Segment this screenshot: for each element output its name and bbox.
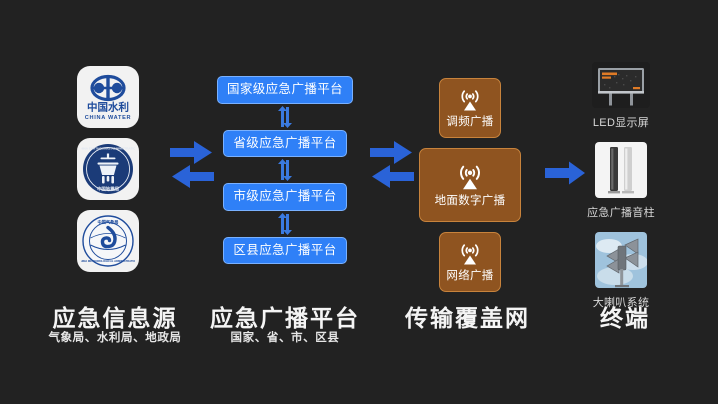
bidirectional-vertical-arrow-icon — [277, 213, 293, 235]
terminal-item-speaker-column[interactable]: 应急广播音柱 — [587, 142, 655, 220]
platform-vlink-1 — [277, 104, 293, 130]
led-display-icon — [592, 62, 650, 108]
svg-text:CHINA EARTHQUAKE ADMINISTRATIO: CHINA EARTHQUAKE ADMINISTRATION — [81, 146, 135, 150]
transmission-box-internet[interactable]: 网络广播 — [439, 232, 501, 292]
logo-china-meteorological-administration: 中国气象局 CHINA METEOROLOGICAL ADMINISTRATIO… — [77, 210, 139, 272]
section-title-sources: 应急信息源 — [30, 299, 200, 333]
bidirectional-vertical-arrow-icon — [277, 106, 293, 128]
terminal-label-led-display: LED显示屏 — [593, 114, 649, 130]
transmission-label-internet: 网络广播 — [446, 271, 493, 283]
china-meteorological-administration-seal-icon: 中国气象局 CHINA METEOROLOGICAL ADMINISTRATIO… — [81, 214, 135, 268]
platform-box-column: 国家级应急广播平台 省级应急广播平台 市级应急广播平台 区县应急广播平台 — [222, 76, 348, 264]
broadcast-tower-icon — [452, 163, 488, 191]
svg-text:中国气象局: 中国气象局 — [98, 219, 119, 226]
broadcast-tower-icon — [455, 88, 485, 112]
logo-china-water: 中国水利 CHINA WATER — [77, 66, 139, 128]
platform-box-district[interactable]: 区县应急广播平台 — [223, 237, 346, 265]
source-logo-column: 中国水利 CHINA WATER CHINA EARTHQUAKE A — [77, 66, 139, 272]
transmission-label-fm: 调频广播 — [446, 117, 493, 129]
bidirectional-arrow-icon — [166, 138, 218, 194]
section-title-terminal: 终端 — [570, 299, 680, 333]
china-earthquake-administration-seal-icon: CHINA EARTHQUAKE ADMINISTRATION 中国地震局 — [81, 142, 135, 196]
diagram-canvas: 中国水利 CHINA WATER CHINA EARTHQUAKE A — [0, 0, 718, 404]
svg-text:CHINA METEOROLOGICAL ADMINISTR: CHINA METEOROLOGICAL ADMINISTRATION — [81, 259, 135, 263]
transmission-box-column: 调频广播 地面数字广播 — [415, 78, 525, 292]
section-subtitle-sources: 气象局、水利局、地政局 — [30, 329, 200, 345]
transmission-box-terrestrial-digital[interactable]: 地面数字广播 — [419, 148, 521, 222]
terminal-item-led-display[interactable]: LED显示屏 — [592, 62, 650, 130]
platform-vlink-3 — [277, 211, 293, 237]
platform-box-municipal[interactable]: 市级应急广播平台 — [223, 183, 346, 211]
section-title-platform: 应急广播平台 — [200, 299, 370, 333]
section-title-transmission: 传输覆盖网 — [390, 299, 545, 333]
logo-china-earthquake-administration: CHINA EARTHQUAKE ADMINISTRATION 中国地震局 — [77, 138, 139, 200]
platform-box-provincial[interactable]: 省级应急广播平台 — [223, 130, 346, 158]
terminal-column: LED显示屏 应急广播音柱 — [577, 62, 665, 310]
broadcast-tower-icon — [455, 242, 485, 266]
bidirectional-vertical-arrow-icon — [277, 159, 293, 181]
horn-loudspeaker-icon — [595, 232, 647, 288]
platform-box-national[interactable]: 国家级应急广播平台 — [217, 76, 353, 104]
terminal-label-speaker-column: 应急广播音柱 — [587, 204, 655, 220]
transmission-label-terrestrial-digital: 地面数字广播 — [435, 196, 506, 208]
section-subtitle-platform: 国家、省、市、区县 — [200, 329, 370, 345]
transmission-box-fm[interactable]: 调频广播 — [439, 78, 501, 138]
china-water-en-label: CHINA WATER — [85, 115, 132, 121]
speaker-column-icon — [595, 142, 647, 198]
platform-vlink-2 — [277, 157, 293, 183]
svg-text:中国地震局: 中国地震局 — [97, 186, 120, 193]
connector-platform-transmission — [366, 138, 418, 199]
connector-sources-platform — [166, 138, 218, 199]
bidirectional-arrow-icon — [366, 138, 418, 194]
china-water-emblem-icon: 中国水利 CHINA WATER — [79, 68, 137, 126]
china-water-cn-label: 中国水利 — [87, 101, 129, 114]
